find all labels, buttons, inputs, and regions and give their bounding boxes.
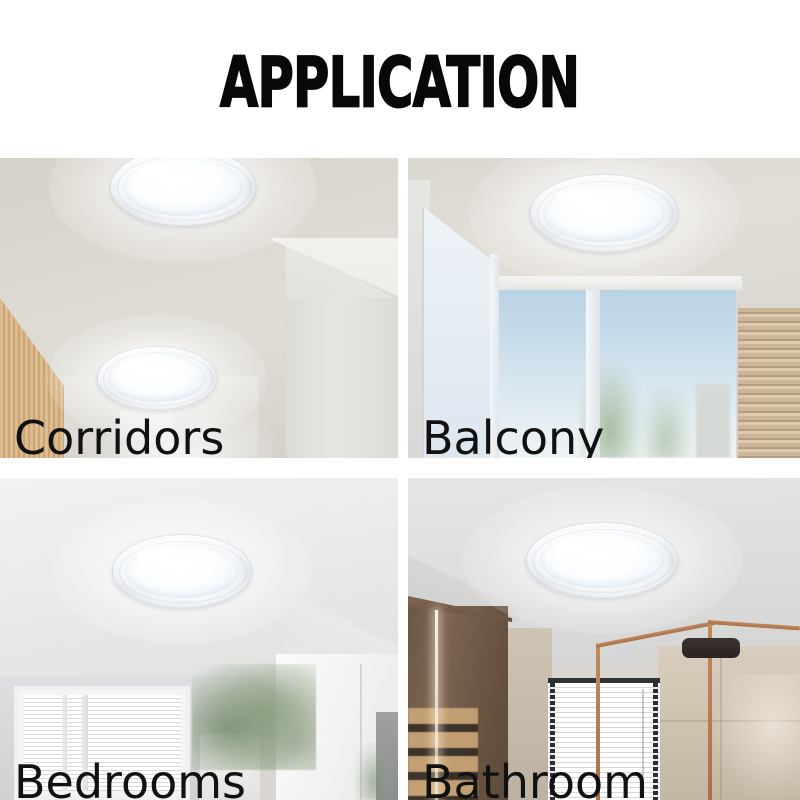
panel-corridors[interactable]: Corridors (0, 158, 398, 458)
panel-label-bathroom: Bathroom (422, 756, 648, 800)
panel-label-corridors: Corridors (14, 412, 224, 458)
bathroom-scene (408, 478, 800, 800)
header-banner: APPLICATION (0, 0, 800, 158)
lamp-highlight (119, 358, 167, 375)
application-collage: APPLICATION (0, 0, 800, 800)
panel-bathroom[interactable]: Bathroom (408, 478, 800, 800)
panel-balcony[interactable]: Balcony (408, 158, 800, 458)
corridor-right-wall (286, 298, 398, 458)
bathroom-blind-edge (653, 683, 658, 800)
bedroom-plant-secondary (354, 742, 394, 800)
panel-bedrooms[interactable]: Bedrooms (0, 478, 398, 800)
application-grid: Corridors (0, 158, 800, 800)
page-title: APPLICATION (220, 48, 579, 117)
balcony-tree (640, 388, 692, 458)
lamp-highlight (137, 547, 193, 566)
ceiling-lamp-near (97, 346, 217, 410)
ceiling-lamp (526, 522, 678, 598)
lamp-highlight (136, 162, 194, 182)
ceiling-lamp (530, 174, 678, 252)
balcony-distant-building (696, 384, 730, 458)
panel-label-bedrooms: Bedrooms (14, 756, 246, 800)
ceiling-lamp (112, 534, 252, 608)
panel-label-balcony: Balcony (422, 412, 604, 458)
ceiling-lamp-far (110, 158, 256, 226)
bathroom-light-glow (710, 674, 800, 800)
bathroom-ceiling-shower-head (682, 638, 740, 658)
balcony-wood-screen (738, 308, 800, 458)
bedroom-scene (0, 478, 398, 800)
